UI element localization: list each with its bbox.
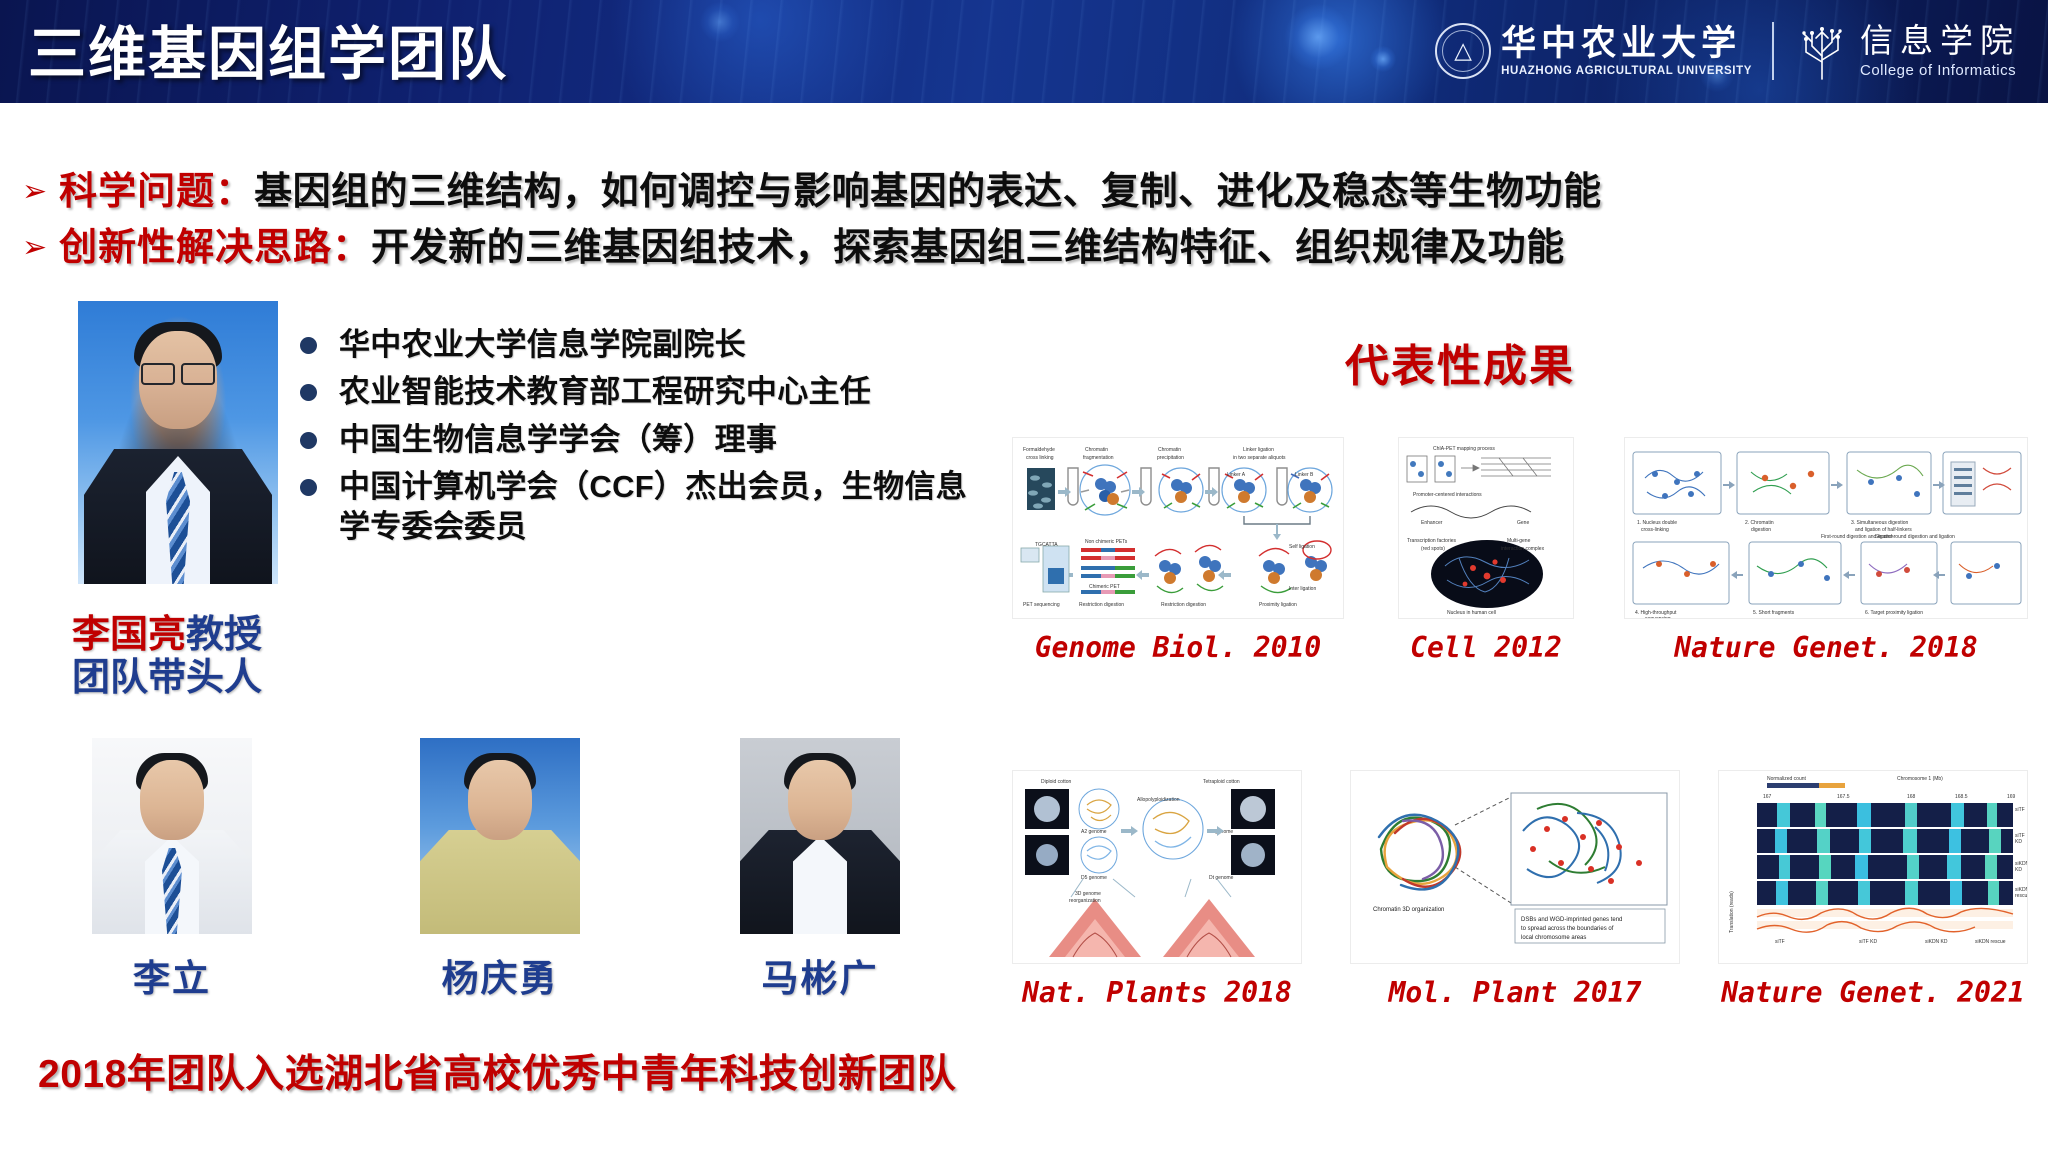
- member-name: 杨庆勇: [420, 948, 580, 1002]
- question-label-1: 科学问题：: [59, 160, 254, 215]
- svg-text:3. Simultaneous digestion: 3. Simultaneous digestion: [1851, 520, 1908, 526]
- svg-text:Chromatin: Chromatin: [1085, 447, 1108, 453]
- portrait-face: [140, 760, 204, 840]
- svg-text:Inter ligation: Inter ligation: [1289, 586, 1316, 592]
- svg-text:siTF: siTF: [1775, 939, 1785, 945]
- svg-text:rescue: rescue: [2015, 893, 2028, 899]
- svg-text:Second-round digestion and lig: Second-round digestion and ligation: [1875, 534, 1955, 540]
- slide-root: 三维基因组学团队 △ 华中农业大学 HUAZHONG AGRICULTURAL …: [0, 0, 2048, 1152]
- leader-title: 教授: [186, 614, 262, 656]
- figure-image: Normalized count Chromosome 1 (Mb) 167 1…: [1718, 770, 2028, 964]
- member-portrait: [420, 738, 580, 934]
- svg-text:169: 169: [2007, 794, 2016, 800]
- question-line-1: ➢ 科学问题： 基因组的三维结构，如何调控与影响基因的表达、复制、进化及稳态等生…: [22, 160, 1602, 215]
- college-name-en: College of Informatics: [1860, 62, 2020, 79]
- figure-image: ChIA-PET mapping process Promoter-center…: [1398, 437, 1574, 619]
- svg-text:167.5: 167.5: [1837, 794, 1850, 800]
- svg-text:PET sequencing: PET sequencing: [1023, 602, 1060, 608]
- university-name-cn: 华中农业大学: [1501, 25, 1752, 63]
- list-item: 中国计算机学会（CCF）杰出会员，生物信息学专委会委员: [300, 467, 980, 548]
- circuit-tree-icon: [1794, 22, 1850, 80]
- svg-text:Chromatin 3D organization: Chromatin 3D organization: [1373, 907, 1444, 913]
- university-logo: △ 华中农业大学 HUAZHONG AGRICULTURAL UNIVERSIT…: [1435, 23, 1752, 79]
- award-banner-text: 2018年团队入选湖北省高校优秀中青年科技创新团队: [38, 1043, 956, 1099]
- svg-text:Chimeric PET: Chimeric PET: [1089, 584, 1120, 590]
- svg-text:Allopolyploidization: Allopolyploidization: [1137, 797, 1180, 803]
- question-body-1: 基因组的三维结构，如何调控与影响基因的表达、复制、进化及稳态等生物功能: [254, 160, 1602, 215]
- bullet-dot-icon: [300, 337, 317, 354]
- figure-caption: Mol. Plant 2017: [1350, 976, 1680, 1009]
- figure-image: Diploid cotton Tetraploid cotton A2 geno…: [1012, 770, 1302, 964]
- list-item: 农业智能技术教育部工程研究中心主任: [300, 372, 980, 412]
- list-item: 中国生物信息学学会（筹）理事: [300, 420, 980, 460]
- results-section-title: 代表性成果: [1345, 330, 1575, 394]
- portrait-face: [468, 760, 532, 840]
- figure-nature-genet-2021: Normalized count Chromosome 1 (Mb) 167 1…: [1718, 770, 2028, 1009]
- svg-text:to spread across the boundarie: to spread across the boundaries of: [1521, 926, 1614, 932]
- svg-text:2. Chromatin: 2. Chromatin: [1745, 520, 1774, 526]
- svg-text:Dt genome: Dt genome: [1209, 875, 1234, 881]
- svg-text:Self ligation: Self ligation: [1289, 544, 1315, 550]
- bullet-dot-icon: [300, 432, 317, 449]
- svg-text:Formaldehyde: Formaldehyde: [1023, 447, 1055, 453]
- crest-glyph: △: [1454, 39, 1472, 62]
- svg-text:167: 167: [1763, 794, 1772, 800]
- two-step-digestion-ligation-diagram: 1. Nucleus double cross-linking 2. Chrom…: [1625, 438, 2028, 619]
- svg-text:cross linking: cross linking: [1026, 455, 1054, 461]
- member-card-3: 马彬广: [740, 738, 900, 1002]
- college-name-cn: 信息学院: [1860, 23, 2020, 59]
- leader-portrait: [78, 301, 278, 584]
- svg-text:TGCATTA: TGCATTA: [1035, 542, 1058, 548]
- leader-name: 李国亮: [72, 614, 186, 656]
- chia-pet-workflow-diagram: Formaldehyde cross linking Chromatin fra…: [1013, 438, 1344, 619]
- university-crest-icon: △: [1435, 23, 1491, 79]
- svg-text:cross-linking: cross-linking: [1641, 527, 1669, 533]
- figure-nature-genet-2018: 1. Nucleus double cross-linking 2. Chrom…: [1624, 437, 2028, 664]
- svg-text:Normalized count: Normalized count: [1767, 776, 1807, 782]
- portrait-polo: [420, 830, 580, 934]
- cotton-genome-3d-diagram: Diploid cotton Tetraploid cotton A2 geno…: [1013, 771, 1302, 964]
- list-item-label: 中国生物信息学学会（筹）理事: [339, 420, 777, 460]
- svg-text:siTF: siTF: [2015, 807, 2025, 813]
- svg-text:Chromatin: Chromatin: [1158, 447, 1181, 453]
- logo-divider: [1772, 22, 1774, 80]
- bullet-dot-icon: [300, 479, 317, 496]
- list-item-label: 中国计算机学会（CCF）杰出会员，生物信息学专委会委员: [339, 467, 980, 548]
- question-label-2: 创新性解决思路：: [59, 216, 371, 271]
- svg-text:Chromosome 1 (Mb): Chromosome 1 (Mb): [1897, 776, 1943, 782]
- leader-role: 团队带头人: [72, 657, 262, 699]
- svg-text:Non chimeric PETs: Non chimeric PETs: [1085, 539, 1128, 545]
- member-portrait: [92, 738, 252, 934]
- svg-text:Enhancer: Enhancer: [1421, 520, 1443, 526]
- figure-image: 1. Nucleus double cross-linking 2. Chrom…: [1624, 437, 2028, 619]
- list-item-label: 华中农业大学信息学院副院长: [339, 325, 746, 365]
- svg-text:5. Short fragments: 5. Short fragments: [1753, 610, 1795, 616]
- svg-text:Linker B: Linker B: [1295, 472, 1314, 478]
- svg-text:A2 genome: A2 genome: [1081, 829, 1107, 835]
- question-body-2: 开发新的三维基因组技术，探索基因组三维结构特征、组织规律及功能: [371, 216, 1565, 271]
- bullet-dot-icon: [300, 384, 317, 401]
- svg-text:precipitation: precipitation: [1157, 455, 1184, 461]
- university-logo-text: 华中农业大学 HUAZHONG AGRICULTURAL UNIVERSITY: [1501, 25, 1752, 77]
- figure-cell-2012: ChIA-PET mapping process Promoter-center…: [1398, 437, 1574, 664]
- svg-text:6. Target proximity ligation: 6. Target proximity ligation: [1865, 610, 1923, 616]
- svg-text:Proximity ligation: Proximity ligation: [1259, 602, 1297, 608]
- figure-genome-biol-2010: Formaldehyde cross linking Chromatin fra…: [1012, 437, 1344, 664]
- svg-text:Diploid cotton: Diploid cotton: [1041, 779, 1072, 785]
- svg-text:KD: KD: [2015, 839, 2022, 845]
- svg-text:KD: KD: [2015, 867, 2022, 873]
- member-card-1: 李立: [92, 738, 252, 1002]
- leader-role-row: 团队带头人: [72, 657, 302, 700]
- svg-text:Promoter-centered interactions: Promoter-centered interactions: [1413, 492, 1482, 498]
- svg-text:siKDN KD: siKDN KD: [1925, 939, 1948, 945]
- svg-text:Linker A: Linker A: [1227, 472, 1246, 478]
- svg-text:3D genome: 3D genome: [1075, 891, 1101, 897]
- svg-text:Restriction digestion: Restriction digestion: [1079, 602, 1124, 608]
- svg-text:siKDN rescue: siKDN rescue: [1975, 939, 2006, 945]
- question-line-2: ➢ 创新性解决思路： 开发新的三维基因组技术，探索基因组三维结构特征、组织规律及…: [22, 216, 1565, 271]
- chromatin-interaction-nucleus-diagram: ChIA-PET mapping process Promoter-center…: [1399, 438, 1574, 619]
- svg-text:in two separate aliquots: in two separate aliquots: [1233, 455, 1286, 461]
- chromatin-3d-organization-diagram: Chromatin 3D organization: [1351, 771, 1680, 964]
- svg-text:local chromosome areas: local chromosome areas: [1521, 935, 1586, 941]
- svg-text:D5 genome: D5 genome: [1081, 875, 1107, 881]
- page-title: 三维基因组学团队: [28, 7, 508, 91]
- svg-text:Linker ligation: Linker ligation: [1243, 447, 1274, 453]
- arrow-bullet-icon: ➢: [22, 230, 47, 265]
- member-name: 马彬广: [740, 948, 900, 1002]
- leader-credentials-list: 华中农业大学信息学院副院长 农业智能技术教育部工程研究中心主任 中国生物信息学学…: [300, 325, 980, 554]
- svg-text:Tetraploid cotton: Tetraploid cotton: [1203, 779, 1240, 785]
- figure-image: Chromatin 3D organization: [1350, 770, 1680, 964]
- logo-group: △ 华中农业大学 HUAZHONG AGRICULTURAL UNIVERSIT…: [1435, 13, 2020, 89]
- list-item: 华中农业大学信息学院副院长: [300, 325, 980, 365]
- leader-name-row: 李国亮教授: [72, 614, 302, 657]
- figure-caption: Nat. Plants 2018: [1012, 976, 1302, 1009]
- figure-caption: Nature Genet. 2018: [1624, 631, 2028, 664]
- svg-text:fragmentation: fragmentation: [1083, 455, 1114, 461]
- arrow-bullet-icon: ➢: [22, 174, 47, 209]
- figure-caption: Cell 2012: [1398, 631, 1574, 664]
- svg-text:siTF KD: siTF KD: [1859, 939, 1877, 945]
- svg-text:Gene: Gene: [1517, 520, 1529, 526]
- svg-text:(red spots): (red spots): [1421, 546, 1445, 552]
- svg-text:digestion: digestion: [1751, 527, 1771, 533]
- figure-nat-plants-2018: Diploid cotton Tetraploid cotton A2 geno…: [1012, 770, 1302, 1009]
- header-banner: 三维基因组学团队 △ 华中农业大学 HUAZHONG AGRICULTURAL …: [0, 0, 2048, 103]
- figure-caption: Nature Genet. 2021: [1718, 976, 2028, 1009]
- svg-text:1. Nucleus double: 1. Nucleus double: [1637, 520, 1677, 526]
- svg-text:and ligation of half-linkers: and ligation of half-linkers: [1855, 527, 1912, 533]
- portrait-face: [788, 760, 852, 840]
- portrait-glasses: [141, 363, 215, 382]
- svg-text:ChIA-PET mapping process: ChIA-PET mapping process: [1433, 446, 1495, 452]
- svg-text:sequencing: sequencing: [1645, 616, 1671, 619]
- figure-image: Formaldehyde cross linking Chromatin fra…: [1012, 437, 1344, 619]
- svg-text:168.5: 168.5: [1955, 794, 1968, 800]
- list-item-label: 农业智能技术教育部工程研究中心主任: [339, 372, 871, 412]
- svg-text:168: 168: [1907, 794, 1916, 800]
- figure-mol-plant-2017: Chromatin 3D organization: [1350, 770, 1680, 1009]
- svg-text:Translation (reads): Translation (reads): [1729, 891, 1735, 933]
- leader-name-block: 李国亮教授 团队带头人: [72, 614, 302, 699]
- svg-text:reorganization: reorganization: [1069, 898, 1101, 904]
- svg-text:Multi-gene: Multi-gene: [1507, 538, 1531, 544]
- member-name: 李立: [92, 948, 252, 1002]
- member-portrait: [740, 738, 900, 934]
- college-logo-text: 信息学院 College of Informatics: [1860, 23, 2020, 79]
- college-logo: 信息学院 College of Informatics: [1794, 22, 2020, 80]
- member-card-2: 杨庆勇: [420, 738, 580, 1002]
- svg-text:DSBs and WGD-imprinted genes t: DSBs and WGD-imprinted genes tend: [1521, 917, 1622, 923]
- svg-text:Restriction digestion: Restriction digestion: [1161, 602, 1206, 608]
- hi-c-contact-heatmap: Normalized count Chromosome 1 (Mb) 167 1…: [1719, 771, 2028, 964]
- university-name-en: HUAZHONG AGRICULTURAL UNIVERSITY: [1501, 65, 1752, 77]
- svg-text:Nucleus in human cell: Nucleus in human cell: [1447, 610, 1496, 616]
- svg-text:interaction complex: interaction complex: [1501, 546, 1545, 552]
- svg-text:Transcription factories: Transcription factories: [1407, 538, 1456, 544]
- figure-caption: Genome Biol. 2010: [1012, 631, 1344, 664]
